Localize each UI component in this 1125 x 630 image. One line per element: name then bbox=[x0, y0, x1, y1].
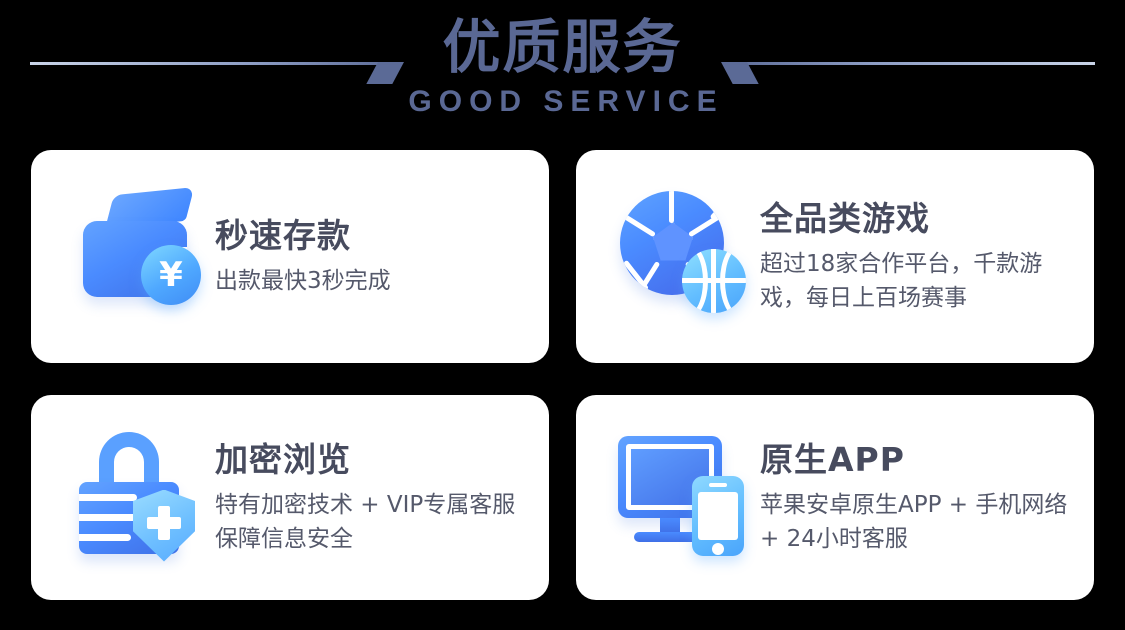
monitor-phone-icon bbox=[606, 428, 756, 568]
right-decorative-rule bbox=[725, 62, 1095, 84]
card-text-block: 秒速存款 出款最快3秒完成 bbox=[211, 216, 391, 298]
card-title: 原生APP bbox=[760, 440, 1080, 480]
feature-card-encryption[interactable]: 加密浏览 特有加密技术 + VIP专属客服保障信息安全 bbox=[31, 395, 549, 600]
wallet-icon: ¥ bbox=[61, 187, 211, 327]
left-rule-line bbox=[30, 62, 400, 65]
basketball-arc-left bbox=[682, 249, 708, 313]
yen-coin-icon: ¥ bbox=[141, 245, 201, 305]
header-title-block: 优质服务 GOOD SERVICE bbox=[388, 0, 738, 118]
phone-icon bbox=[692, 476, 744, 556]
lock-shield-icon bbox=[61, 428, 211, 568]
card-title: 加密浏览 bbox=[215, 440, 535, 480]
card-title: 全品类游戏 bbox=[760, 199, 1080, 239]
phone-home-button bbox=[712, 543, 724, 555]
feature-card-native-app[interactable]: 原生APP 苹果安卓原生APP + 手机网络 + 24小时客服 bbox=[576, 395, 1094, 600]
lock-shackle-icon bbox=[99, 432, 159, 490]
shield-plus-horizontal bbox=[147, 517, 181, 529]
basketball-arc-right bbox=[720, 249, 746, 313]
left-decorative-rule bbox=[30, 62, 400, 84]
feature-card-grid: ¥ 秒速存款 出款最快3秒完成 bbox=[31, 150, 1094, 600]
card-title: 秒速存款 bbox=[215, 216, 391, 256]
right-rule-line bbox=[725, 62, 1095, 65]
phone-speaker bbox=[709, 483, 727, 487]
card-description: 超过18家合作平台，千款游戏，每日上百场赛事 bbox=[760, 247, 1080, 315]
card-description: 出款最快3秒完成 bbox=[215, 264, 391, 298]
page-title: 优质服务 bbox=[388, 16, 738, 78]
page-header: 优质服务 GOOD SERVICE bbox=[0, 0, 1125, 145]
card-description: 苹果安卓原生APP + 手机网络 + 24小时客服 bbox=[760, 488, 1080, 556]
card-text-block: 加密浏览 特有加密技术 + VIP专属客服保障信息安全 bbox=[211, 440, 535, 556]
phone-screen bbox=[698, 492, 738, 540]
card-text-block: 全品类游戏 超过18家合作平台，千款游戏，每日上百场赛事 bbox=[756, 199, 1080, 315]
feature-card-deposit[interactable]: ¥ 秒速存款 出款最快3秒完成 bbox=[31, 150, 549, 363]
basketball-icon bbox=[682, 249, 746, 313]
card-description: 特有加密技术 + VIP专属客服保障信息安全 bbox=[215, 488, 535, 556]
feature-card-games[interactable]: 全品类游戏 超过18家合作平台，千款游戏，每日上百场赛事 bbox=[576, 150, 1094, 363]
soccer-basketball-icon bbox=[606, 187, 756, 327]
card-text-block: 原生APP 苹果安卓原生APP + 手机网络 + 24小时客服 bbox=[756, 440, 1080, 556]
page-subtitle: GOOD SERVICE bbox=[388, 86, 738, 118]
